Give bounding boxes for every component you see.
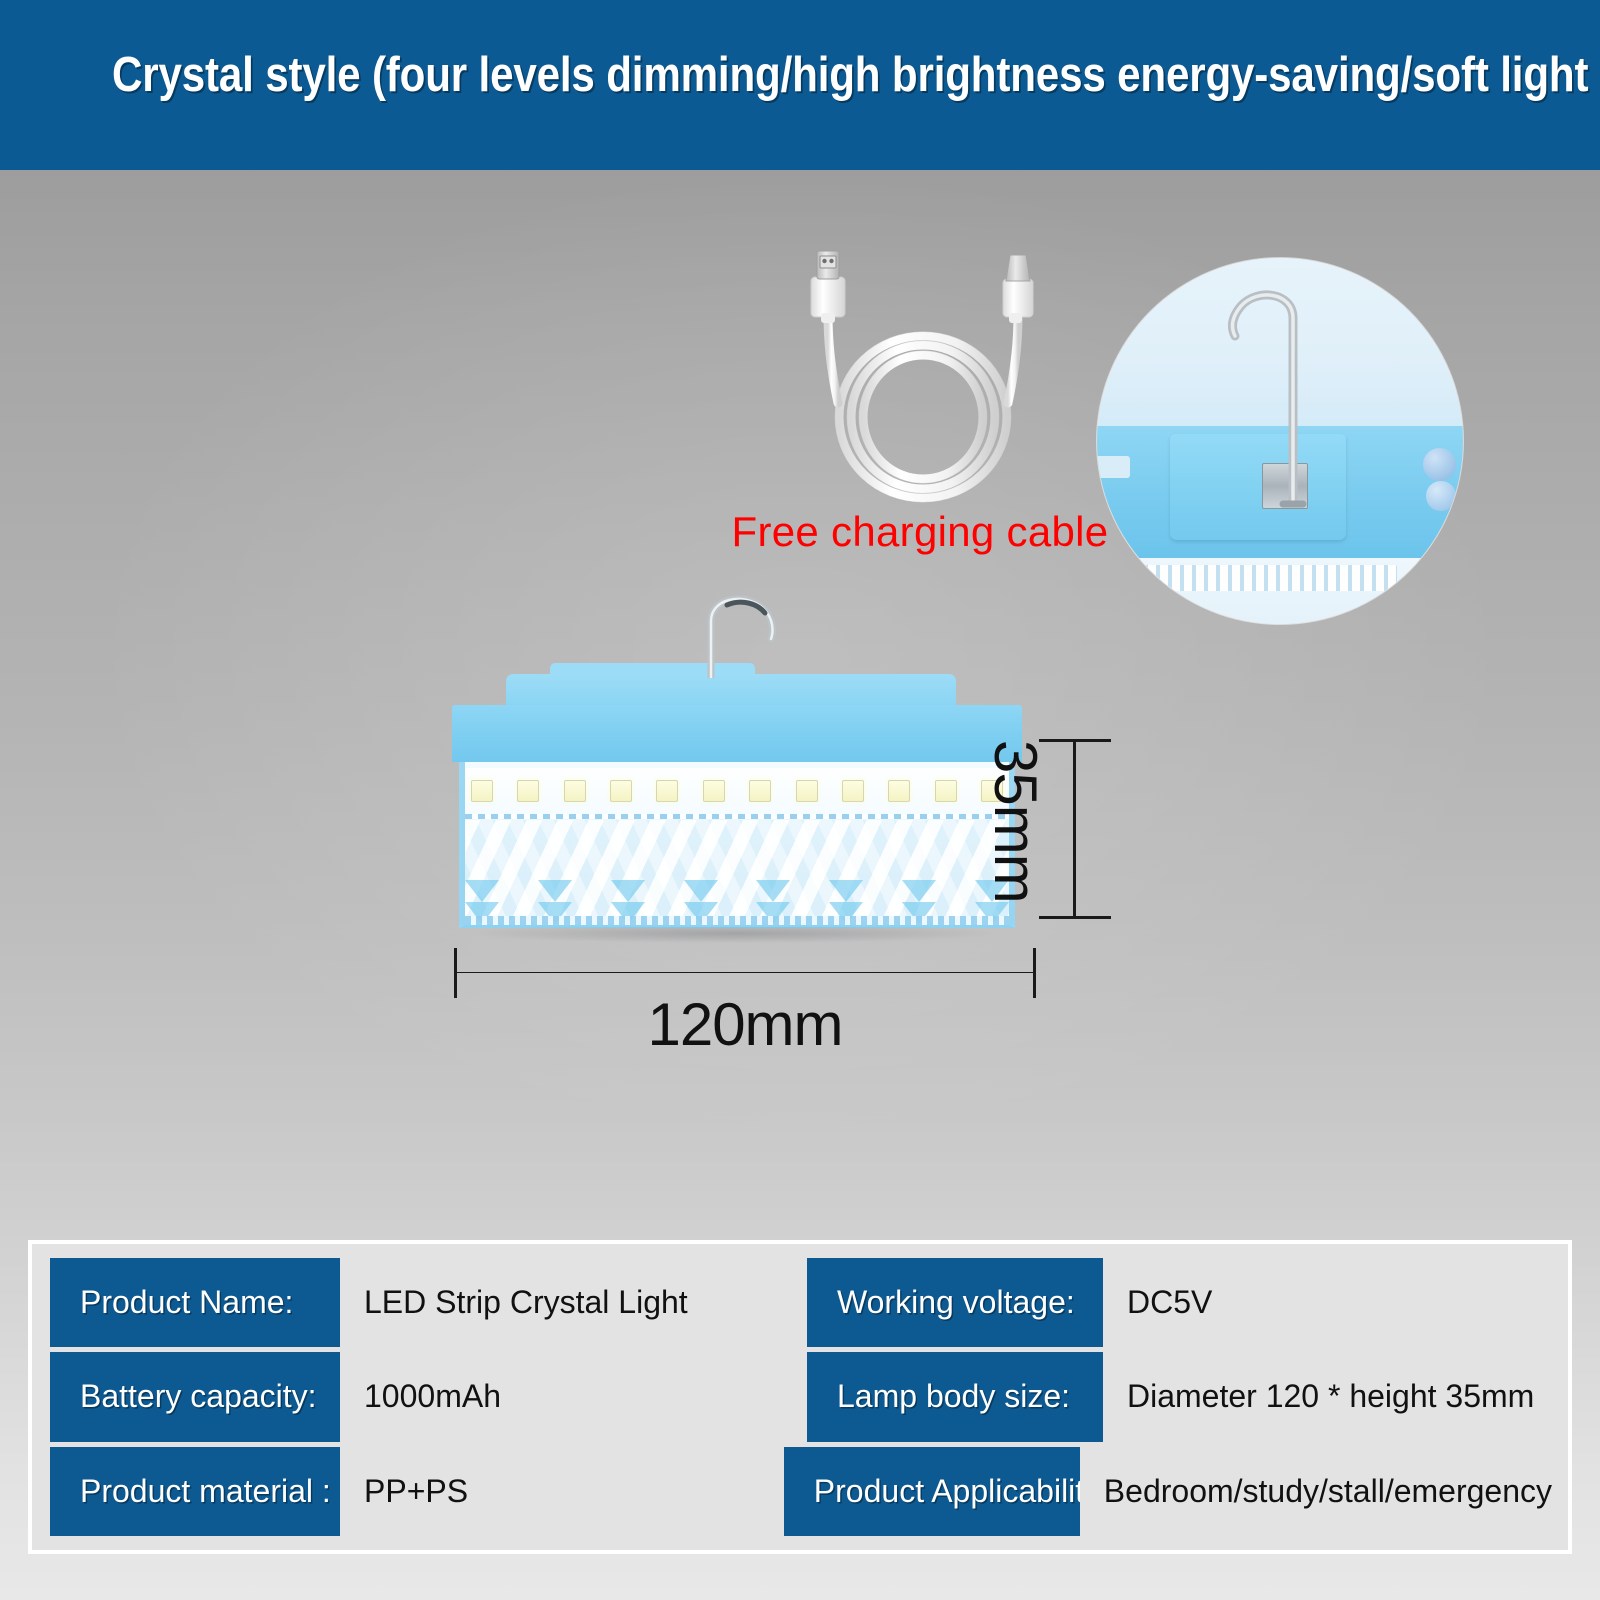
height-dimension-line <box>1073 740 1076 918</box>
spec-pair: Battery capacity: 1000mAh <box>50 1352 801 1441</box>
led-chip <box>842 780 864 802</box>
crystal-facet <box>829 880 863 902</box>
crystal-facet <box>538 880 572 902</box>
usb-a-connector-icon <box>811 251 845 323</box>
charging-cable-illustration <box>760 235 1080 535</box>
crystal-facet <box>611 880 645 902</box>
spec-pair: Product Name: LED Strip Crystal Light <box>50 1258 801 1347</box>
led-chip <box>471 780 493 802</box>
product-hook-icon <box>667 583 797 678</box>
led-strip-seam <box>465 814 1009 819</box>
led-chip <box>935 780 957 802</box>
banner-title: Crystal style (four levels dimming/high … <box>112 46 1488 104</box>
spec-label-product-applicability: Product Applicability: <box>784 1447 1080 1536</box>
hook-closeup-inset <box>1097 258 1463 624</box>
usb-cable-icon <box>760 235 1080 535</box>
led-chip <box>656 780 678 802</box>
led-chip <box>796 780 818 802</box>
crystal-facet <box>756 880 790 902</box>
spec-value-battery-capacity: 1000mAh <box>340 1352 801 1441</box>
crystal-facet <box>465 880 499 902</box>
spec-label-lamp-body-size: Lamp body size: <box>807 1352 1103 1441</box>
micro-usb-connector-icon <box>1003 255 1033 323</box>
product-bottom-edge <box>465 916 1009 925</box>
width-dimension-line <box>455 972 1035 973</box>
led-chip <box>703 780 725 802</box>
table-row: Battery capacity: 1000mAh Lamp body size… <box>50 1352 1552 1441</box>
led-chip <box>749 780 771 802</box>
spec-value-product-material: PP+PS <box>340 1447 778 1536</box>
spec-value-working-voltage: DC5V <box>1103 1258 1552 1347</box>
led-chip <box>517 780 539 802</box>
led-chip <box>888 780 910 802</box>
spec-label-product-material: Product material : <box>50 1447 340 1536</box>
spec-pair: Product Applicability: Bedroom/study/sta… <box>778 1447 1552 1536</box>
height-dimension-label: 35mm <box>990 740 1050 920</box>
spec-value-product-applicability: Bedroom/study/stall/emergency <box>1080 1447 1552 1536</box>
spec-label-working-voltage: Working voltage: <box>807 1258 1103 1347</box>
crystal-facet <box>902 880 936 902</box>
spec-value-product-name: LED Strip Crystal Light <box>340 1258 801 1347</box>
spec-pair: Lamp body size: Diameter 120 * height 35… <box>801 1352 1552 1441</box>
product-photo <box>452 655 1022 930</box>
header-banner: Crystal style (four levels dimming/high … <box>0 0 1600 170</box>
spec-label-battery-capacity: Battery capacity: <box>50 1352 340 1441</box>
metal-hook-icon <box>1097 258 1463 624</box>
table-row: Product Name: LED Strip Crystal Light Wo… <box>50 1258 1552 1347</box>
led-chip <box>564 780 586 802</box>
spec-value-lamp-body-size: Diameter 120 * height 35mm <box>1103 1352 1552 1441</box>
product-drop-shadow <box>476 927 996 943</box>
product-marketing-image: Crystal style (four levels dimming/high … <box>0 0 1600 1600</box>
spec-label-product-name: Product Name: <box>50 1258 340 1347</box>
crystal-facet <box>684 880 718 902</box>
spec-pair: Product material : PP+PS <box>50 1447 778 1536</box>
product-blue-top <box>452 705 1022 762</box>
led-row <box>471 778 1003 804</box>
led-chip <box>610 780 632 802</box>
width-dimension-label: 120mm <box>455 990 1035 1059</box>
spec-pair: Working voltage: DC5V <box>801 1258 1552 1347</box>
specification-table: Product Name: LED Strip Crystal Light Wo… <box>28 1240 1572 1554</box>
product-crystal-body <box>459 762 1015 928</box>
table-row: Product material : PP+PS Product Applica… <box>50 1447 1552 1536</box>
